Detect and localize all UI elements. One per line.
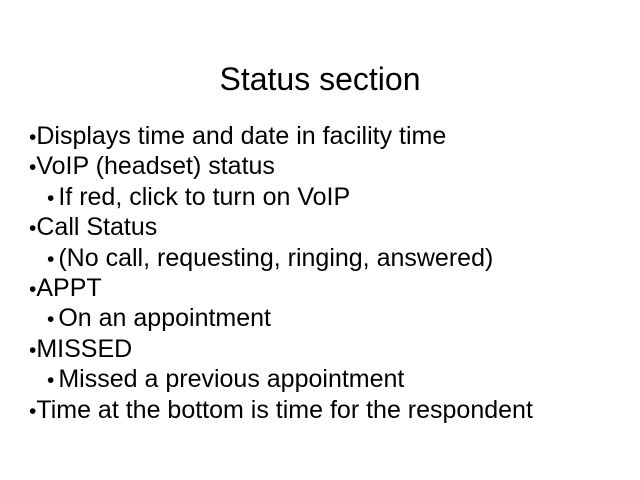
bullet-item: •On an appointment — [29, 304, 629, 334]
bullet-point-icon: • — [47, 305, 54, 334]
bullet-item-label: VoIP (headset) status — [36, 152, 275, 180]
bullet-item-label: On an appointment — [58, 304, 271, 332]
bullet-item: •(No call, requesting, ringing, answered… — [29, 244, 629, 274]
bullet-item-label: APPT — [36, 274, 101, 302]
bullet-item-label: Displays time and date in facility time — [36, 122, 446, 150]
bullet-item: •Call Status — [29, 213, 629, 243]
slide-canvas: Status section •Displays time and date i… — [0, 0, 640, 480]
bullet-item: •Displays time and date in facility time — [29, 122, 629, 152]
bullet-item: •If red, click to turn on VoIP — [29, 183, 629, 213]
bullet-item-label: Missed a previous appointment — [58, 365, 404, 393]
bullet-item-label: Time at the bottom is time for the respo… — [36, 396, 533, 424]
bullet-point-icon: • — [47, 184, 54, 213]
bullet-item-label: If red, click to turn on VoIP — [58, 183, 350, 211]
bullet-item-label: MISSED — [36, 335, 132, 363]
bullet-item: •APPT — [29, 274, 629, 304]
bullet-item: •VoIP (headset) status — [29, 152, 629, 182]
bullet-item: •Time at the bottom is time for the resp… — [29, 396, 629, 426]
page-title: Status section — [0, 59, 640, 99]
bullet-item: •Missed a previous appointment — [29, 365, 629, 395]
bullet-point-icon: • — [47, 366, 54, 395]
bullet-item-label: (No call, requesting, ringing, answered) — [58, 244, 493, 272]
bullet-list: •Displays time and date in facility time… — [29, 122, 629, 426]
bullet-item-label: Call Status — [36, 213, 157, 241]
bullet-item: •MISSED — [29, 335, 629, 365]
bullet-point-icon: • — [47, 245, 54, 274]
